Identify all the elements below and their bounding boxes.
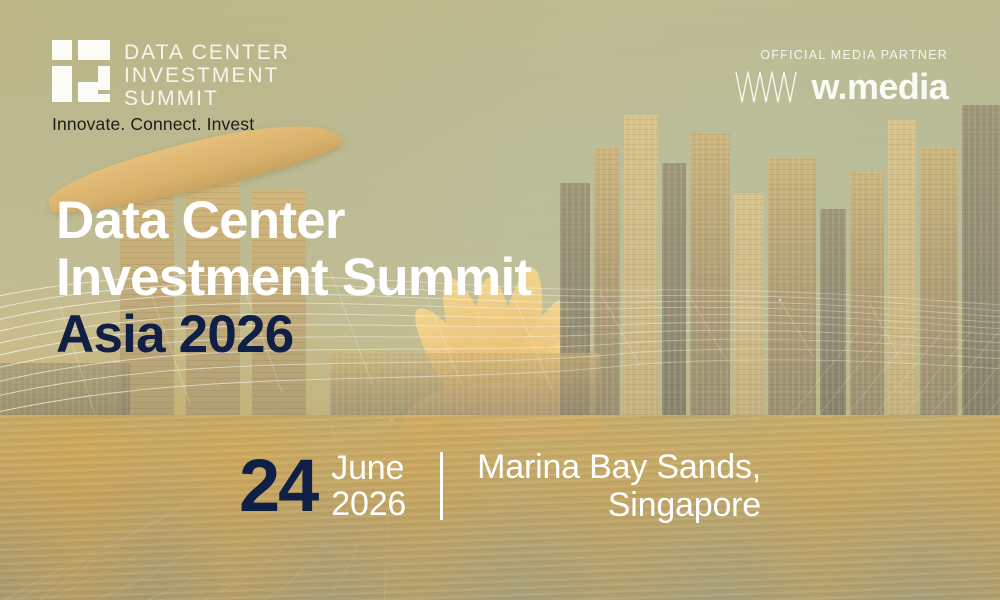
skyline-building	[734, 193, 764, 415]
event-details: 24 June 2026 Marina Bay Sands, Singapore	[0, 448, 1000, 524]
skyline-building	[888, 119, 916, 415]
summit-logo-wordmark: DATA CENTER INVESTMENT SUMMIT	[124, 40, 290, 110]
skyline-building	[624, 115, 658, 415]
event-date: 24 June 2026	[239, 450, 406, 522]
summit-logo[interactable]: DATA CENTER INVESTMENT SUMMIT	[52, 40, 290, 110]
summit-logo-mark-icon	[52, 40, 110, 102]
headline-line-3: Asia 2026	[56, 306, 531, 363]
logo-line-2: INVESTMENT	[124, 64, 290, 87]
skyline-building	[690, 133, 730, 415]
brand-tagline: Innovate. Connect. Invest	[52, 114, 254, 135]
venue-line-1: Marina Bay Sands,	[477, 448, 761, 486]
event-month-year: June 2026	[331, 450, 406, 522]
skyline-waterfront-podium	[0, 363, 130, 415]
event-year: 2026	[331, 486, 406, 522]
event-headline: Data Center Investment Summit Asia 2026	[56, 192, 531, 363]
media-partner-label: OFFICIAL MEDIA PARTNER	[734, 48, 948, 62]
venue-line-2: Singapore	[477, 486, 761, 524]
headline-line-1: Data Center	[56, 192, 531, 249]
event-venue: Marina Bay Sands, Singapore	[477, 448, 761, 524]
headline-line-2: Investment Summit	[56, 249, 531, 306]
skyline-building	[768, 157, 816, 415]
skyline-building	[820, 209, 846, 415]
event-day: 24	[239, 452, 317, 520]
logo-line-1: DATA CENTER	[124, 41, 290, 64]
skyline-building	[962, 105, 1000, 415]
event-banner: DATA CENTER INVESTMENT SUMMIT Innovate. …	[0, 0, 1000, 600]
details-divider	[440, 452, 443, 520]
event-month: June	[331, 450, 406, 486]
wmedia-zigzag-icon	[734, 70, 798, 104]
media-partner-name[interactable]: w.media	[811, 69, 948, 105]
logo-line-3: SUMMIT	[124, 87, 290, 110]
skyline-building	[850, 171, 884, 415]
skyline-building	[920, 147, 958, 415]
media-partner-block: OFFICIAL MEDIA PARTNER w.media	[734, 48, 948, 105]
skyline-building	[662, 163, 686, 415]
